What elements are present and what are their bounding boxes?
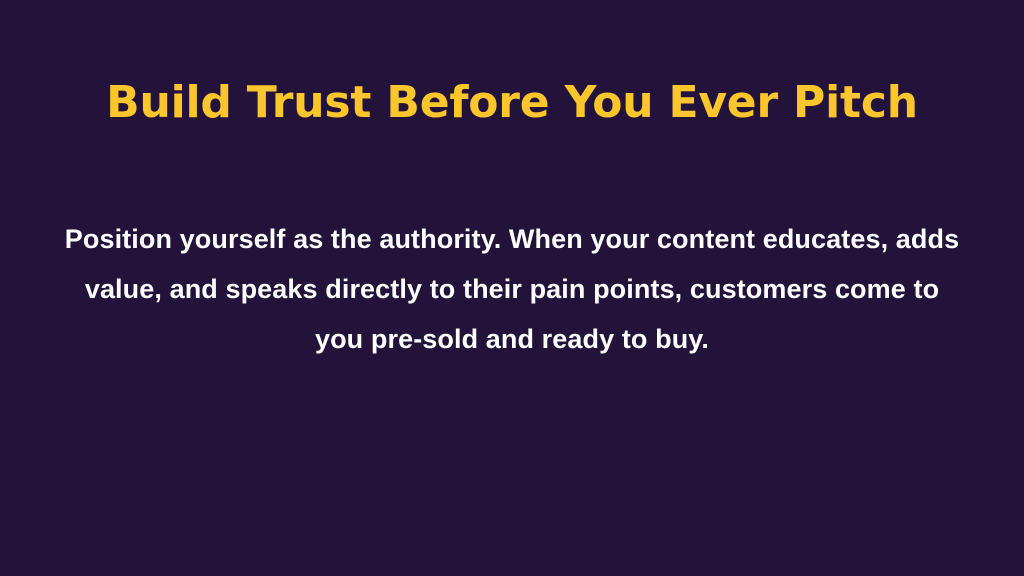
body-line-3: you pre-sold and ready to buy. <box>47 314 977 364</box>
slide-body-text: Position yourself as the authority. When… <box>47 214 977 364</box>
slide-title: Build Trust Before You Ever Pitch <box>0 75 1024 131</box>
body-line-1: Position yourself as the authority. When… <box>47 214 977 264</box>
body-line-2: value, and speaks directly to their pain… <box>47 264 977 314</box>
slide-canvas: Build Trust Before You Ever Pitch Positi… <box>0 0 1024 576</box>
